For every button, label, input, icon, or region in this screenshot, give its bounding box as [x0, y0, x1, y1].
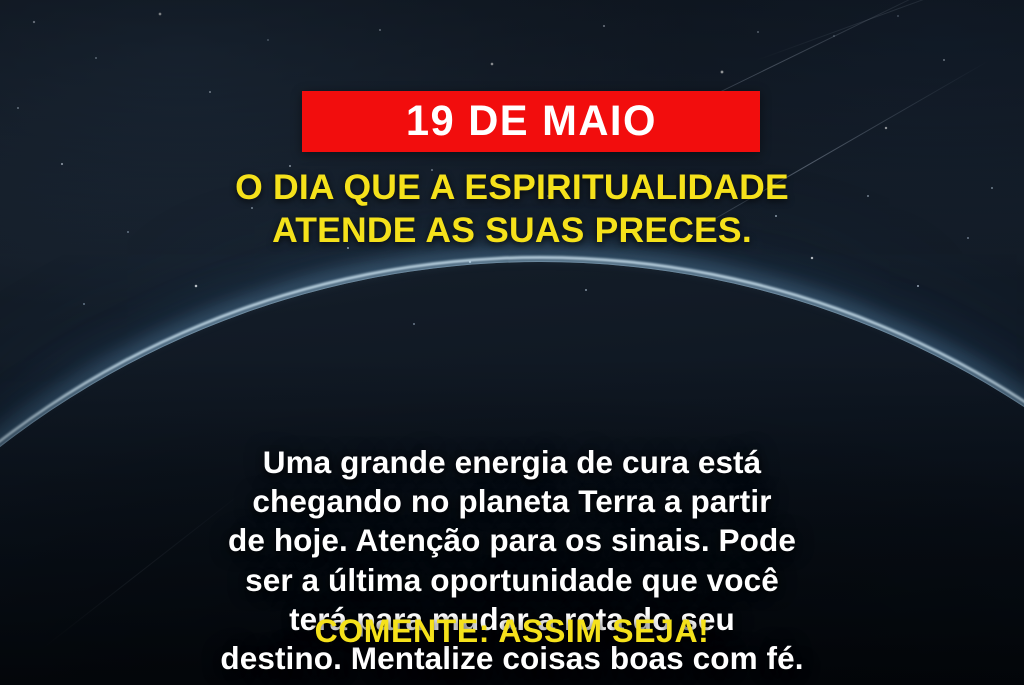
body-copy-line-4: ser a última oportunidade que você [56, 561, 968, 600]
date-banner-label: 19 DE MAIO [406, 100, 657, 143]
poster-canvas: 19 DE MAIO O DIA QUE A ESPIRITUALIDADE A… [0, 0, 1024, 685]
body-copy-line-2: chegando no planeta Terra a partir [56, 482, 968, 521]
body-copy-line-1: Uma grande energia de cura está [56, 443, 968, 482]
date-banner: 19 DE MAIO [302, 91, 760, 152]
headline: O DIA QUE A ESPIRITUALIDADE ATENDE AS SU… [0, 166, 1024, 251]
headline-line-1: O DIA QUE A ESPIRITUALIDADE [48, 166, 976, 209]
call-to-action-text: COMENTE: ASSIM SEJA! [0, 615, 1024, 647]
headline-line-2: ATENDE AS SUAS PRECES. [48, 209, 976, 252]
body-copy-line-3: de hoje. Atenção para os sinais. Pode [56, 521, 968, 560]
poster-content: 19 DE MAIO O DIA QUE A ESPIRITUALIDADE A… [0, 0, 1024, 685]
